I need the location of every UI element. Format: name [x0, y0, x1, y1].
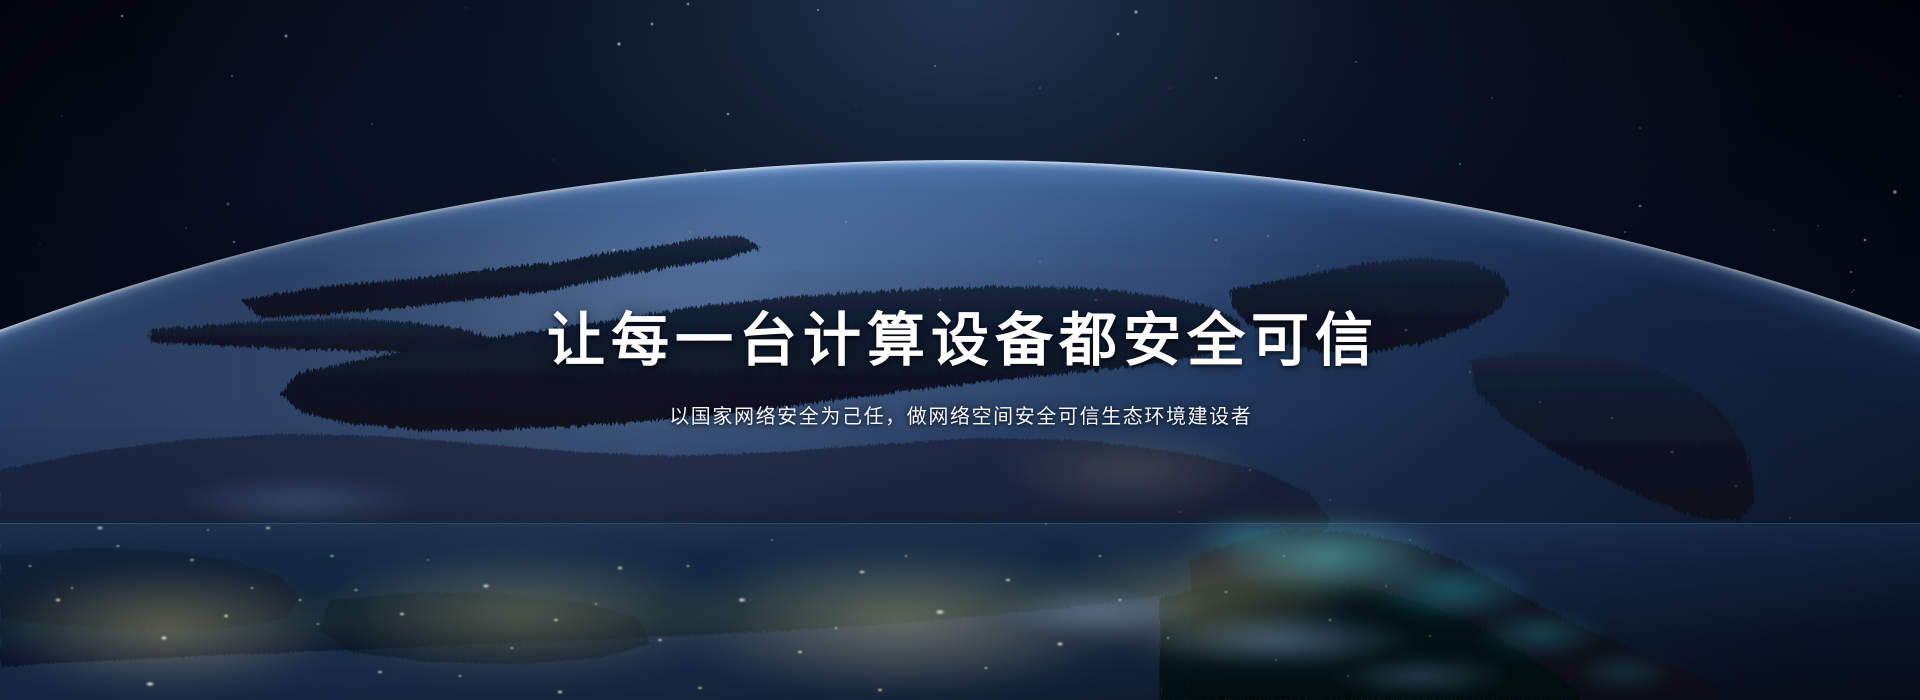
atmosphere-halo-holder — [0, 0, 1920, 700]
hero-banner: 让每一台计算设备都安全可信 以国家网络安全为己任，做网络空间安全可信生态环境建设… — [0, 0, 1920, 700]
atmosphere-halo — [0, 0, 1920, 700]
earth-globe — [0, 0, 1920, 700]
